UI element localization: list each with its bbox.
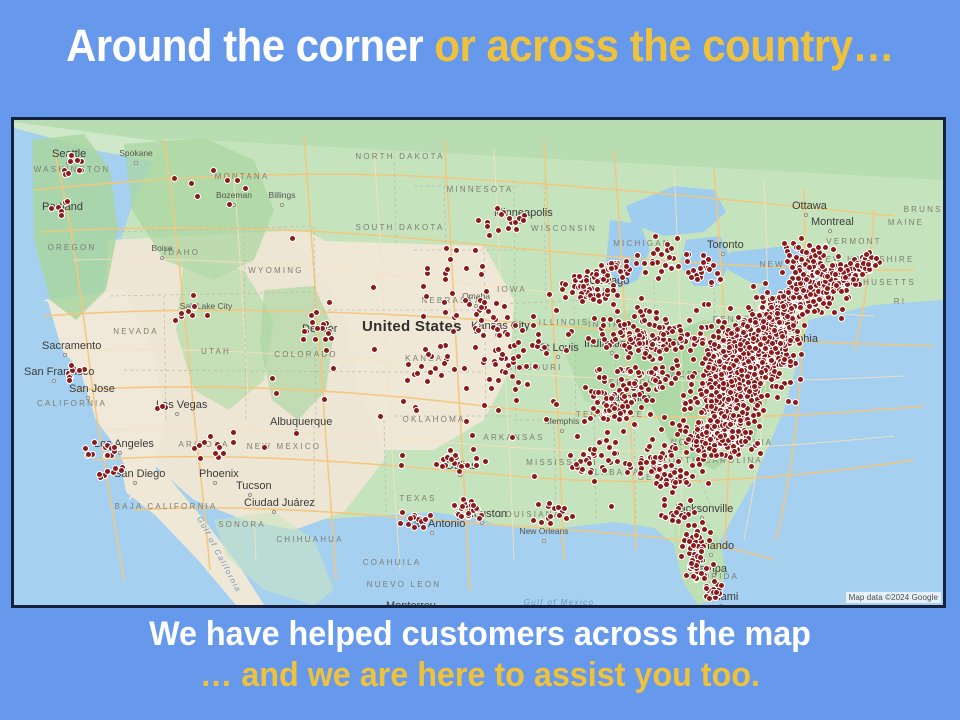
customer-location-marker[interactable] bbox=[718, 582, 725, 589]
customer-location-marker[interactable] bbox=[698, 409, 705, 416]
customer-location-marker[interactable] bbox=[850, 276, 857, 283]
customer-location-marker[interactable] bbox=[742, 429, 749, 436]
customer-location-marker[interactable] bbox=[515, 339, 522, 346]
customer-location-marker[interactable] bbox=[658, 426, 665, 433]
customer-location-marker[interactable] bbox=[579, 466, 586, 473]
customer-location-marker[interactable] bbox=[58, 212, 65, 219]
customer-location-marker[interactable] bbox=[495, 377, 502, 384]
customer-location-marker[interactable] bbox=[669, 489, 676, 496]
customer-location-marker[interactable] bbox=[794, 336, 801, 343]
customer-location-marker[interactable] bbox=[483, 288, 490, 295]
customer-location-marker[interactable] bbox=[48, 205, 55, 212]
customer-location-marker[interactable] bbox=[669, 517, 676, 524]
customer-location-marker[interactable] bbox=[618, 376, 625, 383]
customer-location-marker[interactable] bbox=[707, 529, 714, 536]
customer-location-marker[interactable] bbox=[442, 276, 449, 283]
customer-location-marker[interactable] bbox=[661, 442, 668, 449]
customer-location-marker[interactable] bbox=[705, 351, 712, 358]
customer-location-marker[interactable] bbox=[478, 271, 485, 278]
customer-location-marker[interactable] bbox=[865, 261, 872, 268]
customer-location-marker[interactable] bbox=[691, 335, 698, 342]
customer-location-marker[interactable] bbox=[830, 246, 837, 253]
customer-location-marker[interactable] bbox=[562, 294, 569, 301]
customer-location-marker[interactable] bbox=[515, 353, 522, 360]
customer-location-marker[interactable] bbox=[459, 503, 466, 510]
customer-location-marker[interactable] bbox=[300, 336, 307, 343]
customer-location-marker[interactable] bbox=[326, 299, 333, 306]
customer-location-marker[interactable] bbox=[641, 260, 648, 267]
customer-location-marker[interactable] bbox=[649, 332, 656, 339]
customer-location-marker[interactable] bbox=[626, 461, 633, 468]
customer-location-marker[interactable] bbox=[774, 394, 781, 401]
customer-location-marker[interactable] bbox=[567, 452, 574, 459]
customer-location-marker[interactable] bbox=[600, 276, 607, 283]
customer-location-marker[interactable] bbox=[675, 263, 682, 270]
customer-location-marker[interactable] bbox=[764, 392, 771, 399]
customer-location-marker[interactable] bbox=[701, 575, 708, 582]
customer-location-marker[interactable] bbox=[530, 313, 537, 320]
customer-location-marker[interactable] bbox=[611, 450, 618, 457]
customer-location-marker[interactable] bbox=[655, 275, 662, 282]
customer-location-marker[interactable] bbox=[273, 390, 280, 397]
customer-location-marker[interactable] bbox=[427, 369, 434, 376]
customer-location-marker[interactable] bbox=[676, 422, 683, 429]
customer-location-marker[interactable] bbox=[601, 467, 608, 474]
customer-location-marker[interactable] bbox=[420, 313, 427, 320]
customer-location-marker[interactable] bbox=[683, 449, 690, 456]
customer-location-marker[interactable] bbox=[746, 388, 753, 395]
customer-location-marker[interactable] bbox=[797, 304, 804, 311]
customer-location-marker[interactable] bbox=[707, 436, 714, 443]
customer-location-marker[interactable] bbox=[582, 384, 589, 391]
customer-location-marker[interactable] bbox=[769, 340, 776, 347]
customer-location-marker[interactable] bbox=[543, 416, 550, 423]
customer-location-marker[interactable] bbox=[425, 351, 432, 358]
customer-location-marker[interactable] bbox=[605, 457, 612, 464]
customer-location-marker[interactable] bbox=[627, 368, 634, 375]
customer-location-marker[interactable] bbox=[422, 516, 429, 523]
customer-location-marker[interactable] bbox=[683, 572, 690, 579]
customer-location-marker[interactable] bbox=[625, 354, 632, 361]
customer-location-marker[interactable] bbox=[657, 355, 664, 362]
customer-location-marker[interactable] bbox=[619, 403, 626, 410]
customer-location-marker[interactable] bbox=[598, 452, 605, 459]
customer-location-marker[interactable] bbox=[647, 411, 654, 418]
customer-location-marker[interactable] bbox=[159, 403, 166, 410]
customer-location-marker[interactable] bbox=[481, 356, 488, 363]
customer-location-marker[interactable] bbox=[104, 452, 111, 459]
customer-location-marker[interactable] bbox=[699, 468, 706, 475]
customer-location-marker[interactable] bbox=[66, 377, 73, 384]
customer-location-marker[interactable] bbox=[614, 308, 621, 315]
customer-location-marker[interactable] bbox=[172, 317, 179, 324]
customer-location-marker[interactable] bbox=[473, 455, 480, 462]
customer-location-marker[interactable] bbox=[717, 433, 724, 440]
customer-location-marker[interactable] bbox=[799, 311, 806, 318]
customer-location-marker[interactable] bbox=[591, 446, 598, 453]
customer-location-marker[interactable] bbox=[509, 434, 516, 441]
customer-location-marker[interactable] bbox=[463, 418, 470, 425]
customer-location-marker[interactable] bbox=[405, 361, 412, 368]
customer-location-marker[interactable] bbox=[633, 260, 640, 267]
customer-location-marker[interactable] bbox=[495, 227, 502, 234]
customer-location-marker[interactable] bbox=[790, 352, 797, 359]
customer-location-marker[interactable] bbox=[730, 412, 737, 419]
map-canvas[interactable]: United States WASHINGTONMONTANANORTH DAK… bbox=[14, 120, 943, 605]
customer-location-marker[interactable] bbox=[744, 323, 751, 330]
customer-location-marker[interactable] bbox=[451, 366, 458, 373]
customer-location-marker[interactable] bbox=[727, 305, 734, 312]
customer-location-marker[interactable] bbox=[371, 346, 378, 353]
customer-location-marker[interactable] bbox=[441, 360, 448, 367]
customer-location-marker[interactable] bbox=[705, 364, 712, 371]
customer-location-marker[interactable] bbox=[501, 303, 508, 310]
customer-location-marker[interactable] bbox=[553, 307, 560, 314]
customer-location-marker[interactable] bbox=[797, 376, 804, 383]
customer-location-marker[interactable] bbox=[669, 365, 676, 372]
customer-location-marker[interactable] bbox=[516, 364, 523, 371]
customer-location-marker[interactable] bbox=[824, 273, 831, 280]
customer-location-marker[interactable] bbox=[726, 344, 733, 351]
customer-location-marker[interactable] bbox=[706, 266, 713, 273]
customer-location-marker[interactable] bbox=[608, 395, 615, 402]
customer-location-marker[interactable] bbox=[734, 326, 741, 333]
customer-location-marker[interactable] bbox=[686, 538, 693, 545]
customer-location-marker[interactable] bbox=[104, 468, 111, 475]
customer-location-marker[interactable] bbox=[637, 308, 644, 315]
customer-location-marker[interactable] bbox=[472, 344, 479, 351]
customer-location-marker[interactable] bbox=[646, 321, 653, 328]
customer-location-marker[interactable] bbox=[738, 367, 745, 374]
customer-location-marker[interactable] bbox=[806, 242, 813, 249]
customer-location-marker[interactable] bbox=[414, 370, 421, 377]
customer-location-marker[interactable] bbox=[607, 316, 614, 323]
customer-location-marker[interactable] bbox=[261, 444, 268, 451]
customer-location-marker[interactable] bbox=[64, 198, 71, 205]
customer-location-marker[interactable] bbox=[769, 295, 776, 302]
customer-location-marker[interactable] bbox=[561, 505, 568, 512]
customer-location-marker[interactable] bbox=[637, 470, 644, 477]
customer-location-marker[interactable] bbox=[726, 365, 733, 372]
customer-location-marker[interactable] bbox=[716, 358, 723, 365]
customer-location-marker[interactable] bbox=[663, 481, 670, 488]
customer-location-marker[interactable] bbox=[609, 382, 616, 389]
customer-location-marker[interactable] bbox=[699, 380, 706, 387]
customer-location-marker[interactable] bbox=[690, 267, 697, 274]
customer-location-marker[interactable] bbox=[616, 416, 623, 423]
customer-location-marker[interactable] bbox=[204, 312, 211, 319]
customer-location-marker[interactable] bbox=[624, 469, 631, 476]
customer-location-marker[interactable] bbox=[234, 177, 241, 184]
customer-location-marker[interactable] bbox=[768, 304, 775, 311]
customer-location-marker[interactable] bbox=[480, 332, 487, 339]
customer-location-marker[interactable] bbox=[721, 413, 728, 420]
customer-location-marker[interactable] bbox=[631, 421, 638, 428]
customer-location-marker[interactable] bbox=[463, 385, 470, 392]
customer-location-marker[interactable] bbox=[614, 368, 621, 375]
customer-location-marker[interactable] bbox=[453, 247, 460, 254]
customer-location-marker[interactable] bbox=[829, 262, 836, 269]
customer-location-marker[interactable] bbox=[581, 418, 588, 425]
customer-location-marker[interactable] bbox=[321, 396, 328, 403]
customer-location-marker[interactable] bbox=[423, 293, 430, 300]
customer-location-marker[interactable] bbox=[481, 299, 488, 306]
customer-location-marker[interactable] bbox=[703, 429, 710, 436]
customer-location-marker[interactable] bbox=[705, 480, 712, 487]
customer-location-marker[interactable] bbox=[450, 328, 457, 335]
customer-location-marker[interactable] bbox=[798, 235, 805, 242]
customer-location-marker[interactable] bbox=[301, 328, 308, 335]
customer-location-map[interactable]: United States WASHINGTONMONTANANORTH DAK… bbox=[11, 117, 946, 608]
customer-location-marker[interactable] bbox=[729, 434, 736, 441]
customer-location-marker[interactable] bbox=[661, 502, 668, 509]
customer-location-marker[interactable] bbox=[596, 298, 603, 305]
customer-location-marker[interactable] bbox=[479, 263, 486, 270]
customer-location-marker[interactable] bbox=[207, 433, 214, 440]
customer-location-marker[interactable] bbox=[786, 252, 793, 259]
customer-location-marker[interactable] bbox=[591, 315, 598, 322]
customer-location-marker[interactable] bbox=[535, 338, 542, 345]
customer-location-marker[interactable] bbox=[768, 376, 775, 383]
customer-location-marker[interactable] bbox=[646, 443, 653, 450]
customer-location-marker[interactable] bbox=[448, 456, 455, 463]
customer-location-marker[interactable] bbox=[553, 401, 560, 408]
customer-location-marker[interactable] bbox=[481, 402, 488, 409]
customer-location-marker[interactable] bbox=[733, 357, 740, 364]
customer-location-marker[interactable] bbox=[688, 381, 695, 388]
customer-location-marker[interactable] bbox=[628, 399, 635, 406]
customer-location-marker[interactable] bbox=[688, 274, 695, 281]
customer-location-marker[interactable] bbox=[490, 314, 497, 321]
customer-location-marker[interactable] bbox=[289, 235, 296, 242]
customer-location-marker[interactable] bbox=[662, 316, 669, 323]
customer-location-marker[interactable] bbox=[656, 324, 663, 331]
customer-location-marker[interactable] bbox=[690, 573, 697, 580]
customer-location-marker[interactable] bbox=[750, 335, 757, 342]
customer-location-marker[interactable] bbox=[806, 264, 813, 271]
customer-location-marker[interactable] bbox=[475, 217, 482, 224]
customer-location-marker[interactable] bbox=[720, 380, 727, 387]
customer-location-marker[interactable] bbox=[691, 509, 698, 516]
customer-location-marker[interactable] bbox=[242, 185, 249, 192]
customer-location-marker[interactable] bbox=[565, 331, 572, 338]
customer-location-marker[interactable] bbox=[705, 301, 712, 308]
customer-location-marker[interactable] bbox=[230, 439, 237, 446]
customer-location-marker[interactable] bbox=[748, 463, 755, 470]
customer-location-marker[interactable] bbox=[631, 380, 638, 387]
customer-location-marker[interactable] bbox=[461, 365, 468, 372]
customer-location-marker[interactable] bbox=[325, 330, 332, 337]
customer-location-marker[interactable] bbox=[405, 521, 412, 528]
customer-location-marker[interactable] bbox=[171, 175, 178, 182]
customer-location-marker[interactable] bbox=[596, 439, 603, 446]
customer-location-marker[interactable] bbox=[693, 307, 700, 314]
customer-location-marker[interactable] bbox=[82, 445, 89, 452]
customer-location-marker[interactable] bbox=[677, 327, 684, 334]
customer-location-marker[interactable] bbox=[873, 255, 880, 262]
customer-location-marker[interactable] bbox=[683, 531, 690, 538]
customer-location-marker[interactable] bbox=[771, 327, 778, 334]
customer-location-marker[interactable] bbox=[761, 335, 768, 342]
customer-location-marker[interactable] bbox=[584, 268, 591, 275]
customer-location-marker[interactable] bbox=[437, 343, 444, 350]
customer-location-marker[interactable] bbox=[530, 322, 537, 329]
customer-location-marker[interactable] bbox=[758, 369, 765, 376]
customer-location-marker[interactable] bbox=[649, 341, 656, 348]
customer-location-marker[interactable] bbox=[658, 251, 665, 258]
customer-location-marker[interactable] bbox=[478, 317, 485, 324]
customer-location-marker[interactable] bbox=[673, 357, 680, 364]
customer-location-marker[interactable] bbox=[313, 309, 320, 316]
customer-location-marker[interactable] bbox=[449, 290, 456, 297]
customer-location-marker[interactable] bbox=[701, 526, 708, 533]
customer-location-marker[interactable] bbox=[649, 397, 656, 404]
customer-location-marker[interactable] bbox=[678, 553, 685, 560]
customer-location-marker[interactable] bbox=[750, 412, 757, 419]
customer-location-marker[interactable] bbox=[728, 378, 735, 385]
customer-location-marker[interactable] bbox=[590, 338, 597, 345]
customer-location-marker[interactable] bbox=[469, 432, 476, 439]
customer-location-marker[interactable] bbox=[580, 283, 587, 290]
customer-location-marker[interactable] bbox=[687, 388, 694, 395]
customer-location-marker[interactable] bbox=[620, 428, 627, 435]
customer-location-marker[interactable] bbox=[506, 215, 513, 222]
customer-location-marker[interactable] bbox=[711, 341, 718, 348]
customer-location-marker[interactable] bbox=[650, 250, 657, 257]
customer-location-marker[interactable] bbox=[777, 340, 784, 347]
customer-location-marker[interactable] bbox=[424, 378, 431, 385]
customer-location-marker[interactable] bbox=[700, 372, 707, 379]
customer-location-marker[interactable] bbox=[210, 167, 217, 174]
customer-location-marker[interactable] bbox=[660, 331, 667, 338]
customer-location-marker[interactable] bbox=[569, 289, 576, 296]
customer-location-marker[interactable] bbox=[838, 288, 845, 295]
customer-location-marker[interactable] bbox=[781, 240, 788, 247]
customer-location-marker[interactable] bbox=[793, 254, 800, 261]
customer-location-marker[interactable] bbox=[716, 393, 723, 400]
customer-location-marker[interactable] bbox=[546, 291, 553, 298]
customer-location-marker[interactable] bbox=[787, 379, 794, 386]
customer-location-marker[interactable] bbox=[556, 512, 563, 519]
customer-location-marker[interactable] bbox=[754, 440, 761, 447]
customer-location-marker[interactable] bbox=[524, 381, 531, 388]
customer-location-marker[interactable] bbox=[600, 415, 607, 422]
customer-location-marker[interactable] bbox=[591, 478, 598, 485]
customer-location-marker[interactable] bbox=[453, 312, 460, 319]
customer-location-marker[interactable] bbox=[512, 322, 519, 329]
customer-location-marker[interactable] bbox=[672, 479, 679, 486]
customer-location-marker[interactable] bbox=[810, 298, 817, 305]
customer-location-marker[interactable] bbox=[118, 467, 125, 474]
customer-location-marker[interactable] bbox=[689, 473, 696, 480]
customer-location-marker[interactable] bbox=[760, 324, 767, 331]
customer-location-marker[interactable] bbox=[502, 369, 509, 376]
customer-location-marker[interactable] bbox=[663, 346, 670, 353]
customer-location-marker[interactable] bbox=[787, 337, 794, 344]
customer-location-marker[interactable] bbox=[191, 303, 198, 310]
customer-location-marker[interactable] bbox=[420, 283, 427, 290]
customer-location-marker[interactable] bbox=[679, 543, 686, 550]
customer-location-marker[interactable] bbox=[482, 458, 489, 465]
customer-location-marker[interactable] bbox=[520, 217, 527, 224]
customer-location-marker[interactable] bbox=[460, 496, 467, 503]
customer-location-marker[interactable] bbox=[398, 462, 405, 469]
customer-location-marker[interactable] bbox=[781, 356, 788, 363]
customer-location-marker[interactable] bbox=[226, 201, 233, 208]
customer-location-marker[interactable] bbox=[715, 318, 722, 325]
customer-location-marker[interactable] bbox=[689, 373, 696, 380]
customer-location-marker[interactable] bbox=[684, 258, 691, 265]
customer-location-marker[interactable] bbox=[603, 344, 610, 351]
customer-location-marker[interactable] bbox=[635, 347, 642, 354]
customer-location-marker[interactable] bbox=[513, 226, 520, 233]
customer-location-marker[interactable] bbox=[694, 276, 701, 283]
customer-location-marker[interactable] bbox=[657, 454, 664, 461]
customer-location-marker[interactable] bbox=[496, 332, 503, 339]
customer-location-marker[interactable] bbox=[736, 385, 743, 392]
customer-location-marker[interactable] bbox=[768, 357, 775, 364]
customer-location-marker[interactable] bbox=[674, 431, 681, 438]
customer-location-marker[interactable] bbox=[543, 350, 550, 357]
customer-location-marker[interactable] bbox=[631, 313, 638, 320]
customer-location-marker[interactable] bbox=[669, 328, 676, 335]
customer-location-marker[interactable] bbox=[795, 244, 802, 251]
customer-location-marker[interactable] bbox=[766, 314, 773, 321]
customer-location-marker[interactable] bbox=[690, 356, 697, 363]
customer-location-marker[interactable] bbox=[504, 331, 511, 338]
customer-location-marker[interactable] bbox=[441, 299, 448, 306]
customer-location-marker[interactable] bbox=[696, 461, 703, 468]
customer-location-marker[interactable] bbox=[642, 269, 649, 276]
customer-location-marker[interactable] bbox=[411, 524, 418, 531]
customer-location-marker[interactable] bbox=[601, 374, 608, 381]
customer-location-marker[interactable] bbox=[612, 336, 619, 343]
customer-location-marker[interactable] bbox=[594, 399, 601, 406]
customer-location-marker[interactable] bbox=[648, 369, 655, 376]
customer-location-marker[interactable] bbox=[611, 405, 618, 412]
customer-location-marker[interactable] bbox=[399, 452, 406, 459]
customer-location-marker[interactable] bbox=[649, 436, 656, 443]
customer-location-marker[interactable] bbox=[731, 448, 738, 455]
customer-location-marker[interactable] bbox=[458, 513, 465, 520]
customer-location-marker[interactable] bbox=[659, 384, 666, 391]
customer-location-marker[interactable] bbox=[694, 399, 701, 406]
customer-location-marker[interactable] bbox=[439, 463, 446, 470]
customer-location-marker[interactable] bbox=[456, 468, 463, 475]
customer-location-marker[interactable] bbox=[756, 423, 763, 430]
customer-location-marker[interactable] bbox=[798, 351, 805, 358]
customer-location-marker[interactable] bbox=[748, 446, 755, 453]
customer-location-marker[interactable] bbox=[608, 265, 615, 272]
customer-location-marker[interactable] bbox=[197, 455, 204, 462]
customer-location-marker[interactable] bbox=[650, 459, 657, 466]
customer-location-marker[interactable] bbox=[424, 265, 431, 272]
customer-location-marker[interactable] bbox=[705, 256, 712, 263]
customer-location-marker[interactable] bbox=[486, 376, 493, 383]
customer-location-marker[interactable] bbox=[795, 275, 802, 282]
customer-location-marker[interactable] bbox=[779, 333, 786, 340]
customer-location-marker[interactable] bbox=[638, 404, 645, 411]
customer-location-marker[interactable] bbox=[400, 398, 407, 405]
customer-location-marker[interactable] bbox=[674, 235, 681, 242]
customer-location-marker[interactable] bbox=[519, 327, 526, 334]
customer-location-marker[interactable] bbox=[579, 298, 586, 305]
customer-location-marker[interactable] bbox=[837, 266, 844, 273]
customer-location-marker[interactable] bbox=[442, 309, 449, 316]
customer-location-marker[interactable] bbox=[447, 256, 454, 263]
customer-location-marker[interactable] bbox=[65, 170, 72, 177]
customer-location-marker[interactable] bbox=[683, 479, 690, 486]
